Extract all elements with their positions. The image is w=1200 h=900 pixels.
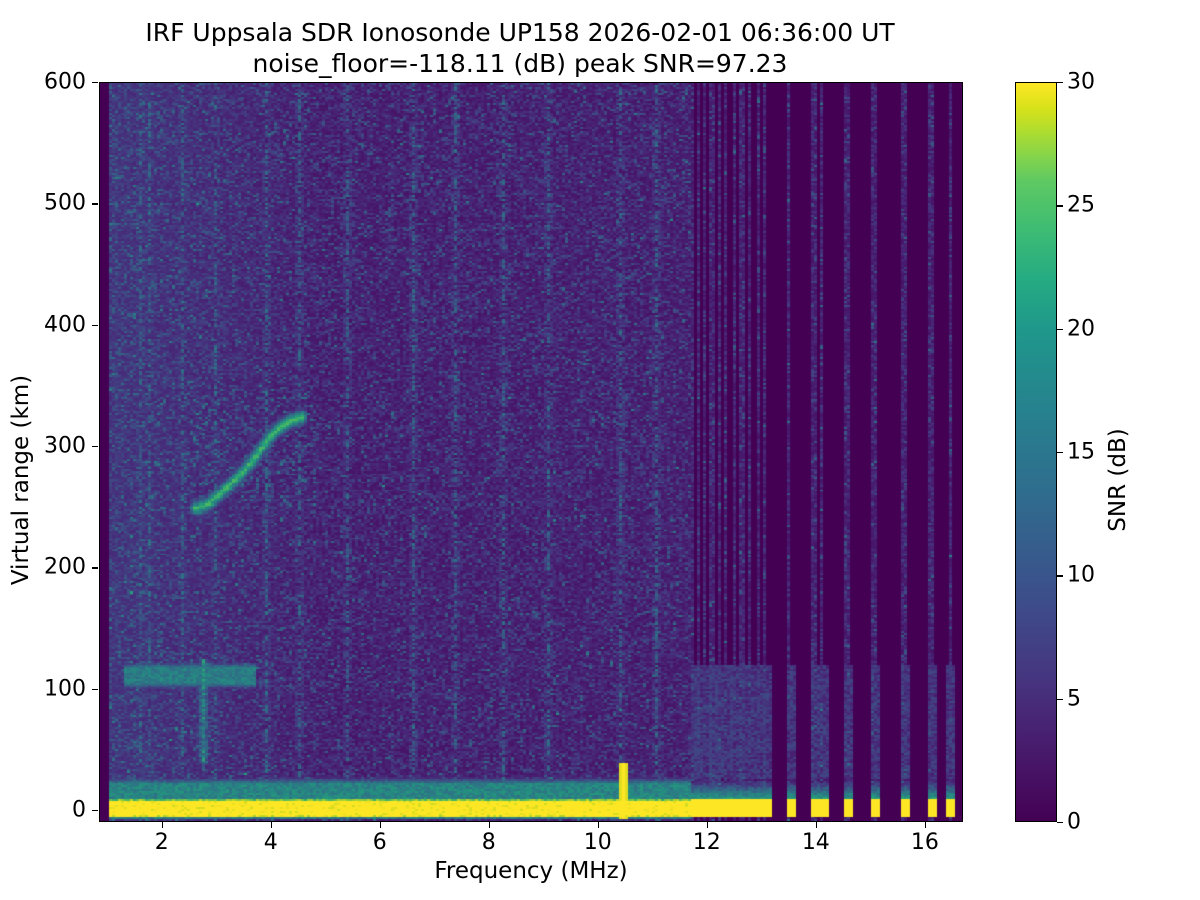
x-tick-label: 12 bbox=[693, 830, 721, 855]
y-tick-label: 500 bbox=[44, 191, 86, 216]
x-tick-label: 8 bbox=[482, 830, 496, 855]
colorbar-tick-mark bbox=[1057, 822, 1063, 823]
y-tick-mark bbox=[92, 689, 98, 690]
x-tick-mark bbox=[816, 822, 817, 828]
y-tick-mark bbox=[92, 82, 98, 83]
colorbar-tick-mark bbox=[1057, 452, 1063, 453]
ionogram-plot-area[interactable] bbox=[99, 82, 963, 822]
colorbar-tick-mark bbox=[1057, 205, 1063, 206]
y-tick-label: 100 bbox=[44, 676, 86, 701]
title-line-2: noise_floor=-118.11 (dB) peak SNR=97.23 bbox=[0, 49, 1040, 80]
x-tick-label: 2 bbox=[155, 830, 169, 855]
ionogram-figure: IRF Uppsala SDR Ionosonde UP158 2026-02-… bbox=[0, 0, 1200, 900]
colorbar-tick-mark bbox=[1057, 575, 1063, 576]
x-tick-mark bbox=[925, 822, 926, 828]
colorbar-tick-label: 5 bbox=[1067, 686, 1081, 711]
y-tick-mark bbox=[92, 203, 98, 204]
x-tick-label: 16 bbox=[911, 830, 939, 855]
y-tick-label: 0 bbox=[72, 797, 86, 822]
x-tick-label: 4 bbox=[264, 830, 278, 855]
colorbar-gradient bbox=[1016, 83, 1056, 821]
x-tick-mark bbox=[707, 822, 708, 828]
x-tick-mark bbox=[380, 822, 381, 828]
y-tick-label: 400 bbox=[44, 312, 86, 337]
y-tick-mark bbox=[92, 567, 98, 568]
y-axis-label: Virtual range (km) bbox=[8, 110, 36, 850]
x-tick-mark bbox=[162, 822, 163, 828]
ionogram-heatmap bbox=[100, 83, 963, 822]
colorbar-tick-label: 15 bbox=[1067, 440, 1095, 465]
x-tick-mark bbox=[598, 822, 599, 828]
colorbar-tick-label: 20 bbox=[1067, 316, 1095, 341]
colorbar-tick-label: 25 bbox=[1067, 193, 1095, 218]
y-tick-mark bbox=[92, 325, 98, 326]
x-tick-label: 6 bbox=[373, 830, 387, 855]
colorbar[interactable] bbox=[1015, 82, 1057, 822]
figure-title: IRF Uppsala SDR Ionosonde UP158 2026-02-… bbox=[0, 18, 1040, 79]
x-tick-label: 14 bbox=[802, 830, 830, 855]
colorbar-tick-label: 0 bbox=[1067, 810, 1081, 835]
colorbar-label: SNR (dB) bbox=[1105, 110, 1133, 850]
y-tick-label: 300 bbox=[44, 433, 86, 458]
x-tick-mark bbox=[489, 822, 490, 828]
y-tick-mark bbox=[92, 810, 98, 811]
y-tick-mark bbox=[92, 446, 98, 447]
title-line-1: IRF Uppsala SDR Ionosonde UP158 2026-02-… bbox=[0, 18, 1040, 49]
colorbar-tick-mark bbox=[1057, 699, 1063, 700]
colorbar-tick-mark bbox=[1057, 329, 1063, 330]
x-tick-label: 10 bbox=[584, 830, 612, 855]
x-axis-label: Frequency (MHz) bbox=[99, 858, 963, 884]
colorbar-tick-mark bbox=[1057, 82, 1063, 83]
x-tick-mark bbox=[271, 822, 272, 828]
colorbar-tick-label: 30 bbox=[1067, 70, 1095, 95]
colorbar-tick-label: 10 bbox=[1067, 563, 1095, 588]
y-tick-label: 200 bbox=[44, 555, 86, 580]
y-tick-label: 600 bbox=[44, 70, 86, 95]
